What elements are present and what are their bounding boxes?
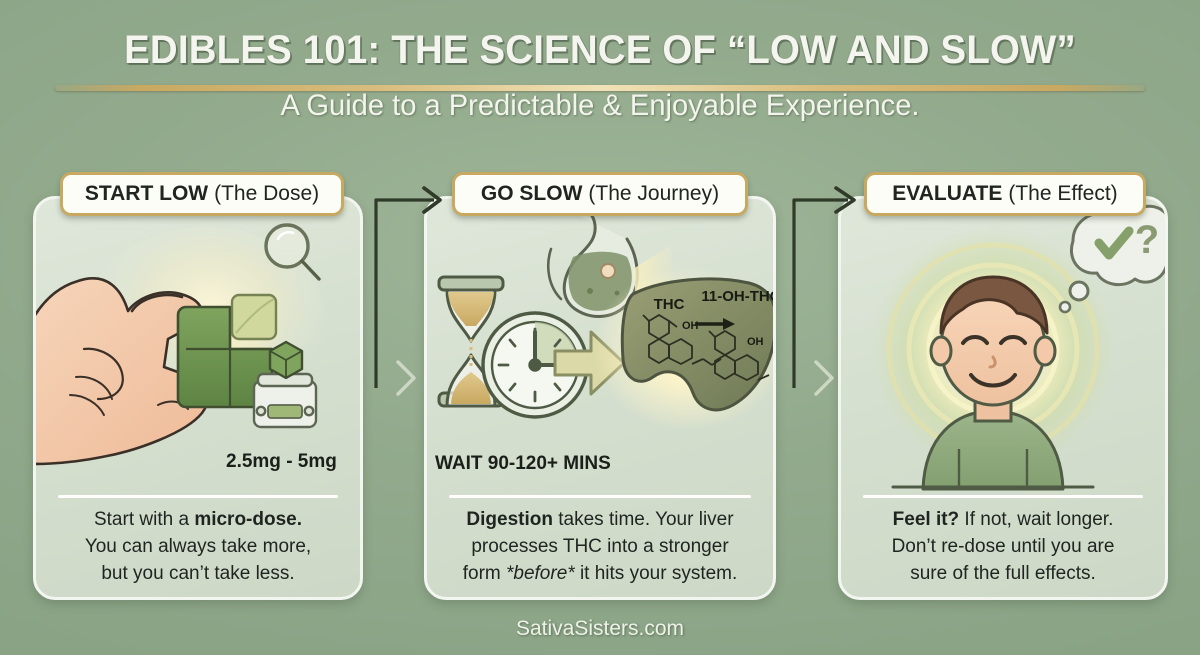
step-header-go-slow[interactable]: GO SLOW (The Journey) bbox=[452, 172, 748, 216]
body-text-emphasis: *before* bbox=[506, 563, 575, 584]
card-divider bbox=[863, 495, 1143, 498]
gummy-piece-icon bbox=[232, 295, 276, 339]
pill-subtitle: (The Effect) bbox=[1008, 182, 1117, 206]
go-slow-illustration: THC OH 11-OH-THC OH WAIT 90-120+ MINS bbox=[427, 199, 773, 495]
body-text: form bbox=[463, 563, 506, 584]
arrow-right-icon-secondary bbox=[816, 362, 832, 394]
pill-subtitle: (The Dose) bbox=[214, 182, 319, 206]
svg-text:OH: OH bbox=[747, 336, 764, 348]
body-text: takes time. Your liver bbox=[553, 509, 734, 530]
arrow-right-icon-secondary bbox=[398, 362, 414, 394]
header: EDIBLES 101: THE SCIENCE OF “LOW AND SLO… bbox=[0, 0, 1200, 123]
body-text-strong: Digestion bbox=[466, 509, 553, 530]
body-text-strong: micro-dose. bbox=[194, 509, 302, 530]
start-low-illustration: 2.5mg - 5mg bbox=[36, 199, 360, 495]
body-text: processes THC into a stronger bbox=[441, 534, 759, 561]
body-text: If not, wait longer. bbox=[959, 509, 1113, 530]
start-low-body: Start with a micro-dose. You can always … bbox=[50, 507, 346, 588]
evaluate-illustration: ? bbox=[841, 199, 1165, 495]
go-slow-body: Digestion takes time. Your liver process… bbox=[441, 507, 759, 588]
infographic-canvas: EDIBLES 101: THE SCIENCE OF “LOW AND SLO… bbox=[0, 0, 1200, 655]
molecule-to-label: 11-OH-THC bbox=[701, 288, 776, 305]
edible-in-stomach-icon bbox=[601, 264, 615, 278]
connector-2-3 bbox=[786, 176, 866, 406]
pill-title: GO SLOW bbox=[481, 182, 583, 206]
body-text: You can always take more, bbox=[50, 534, 346, 561]
footer-site-name[interactable]: SativaSisters.com bbox=[0, 617, 1200, 641]
body-text-strong: Feel it? bbox=[893, 509, 960, 530]
body-text: Don’t re-dose until you are bbox=[855, 534, 1151, 561]
pill-subtitle: (The Journey) bbox=[588, 182, 719, 206]
molecule-from-label: THC bbox=[654, 296, 685, 313]
thought-bubble-icon: ? bbox=[1060, 201, 1168, 312]
pill-title: EVALUATE bbox=[892, 182, 1002, 206]
evaluate-body: Feel it? If not, wait longer. Don’t re-d… bbox=[855, 507, 1151, 588]
connector-1-2 bbox=[372, 176, 452, 406]
card-divider bbox=[449, 495, 751, 498]
step-card-start-low[interactable]: 2.5mg - 5mg Start with a micro-dose. You… bbox=[33, 196, 363, 600]
body-text: it hits your system. bbox=[575, 563, 738, 584]
person-thought-bubble-art: ? bbox=[841, 199, 1168, 495]
step-header-evaluate[interactable]: EVALUATE (The Effect) bbox=[864, 172, 1146, 216]
wait-time-label: WAIT 90-120+ MINS bbox=[435, 453, 611, 475]
step-card-go-slow[interactable]: THC OH 11-OH-THC OH WAIT 90-120+ MINS Di… bbox=[424, 196, 776, 600]
step-card-evaluate[interactable]: ? Feel it? If not, wait longer. Don’t re… bbox=[838, 196, 1168, 600]
hourglass-clock-liver-art: THC OH 11-OH-THC OH bbox=[427, 199, 776, 495]
page-subtitle: A Guide to a Predictable & Enjoyable Exp… bbox=[18, 89, 1182, 123]
card-divider bbox=[58, 495, 338, 498]
dose-range-label: 2.5mg - 5mg bbox=[226, 451, 337, 473]
pill-title: START LOW bbox=[85, 182, 208, 206]
page-title: EDIBLES 101: THE SCIENCE OF “LOW AND SLO… bbox=[24, 0, 1176, 73]
body-text: but you can’t take less. bbox=[50, 561, 346, 588]
svg-text:OH: OH bbox=[682, 320, 699, 332]
question-mark-icon: ? bbox=[1135, 218, 1159, 262]
body-text: Start with a bbox=[94, 509, 194, 530]
step-header-start-low[interactable]: START LOW (The Dose) bbox=[60, 172, 344, 216]
body-text: sure of the full effects. bbox=[855, 561, 1151, 588]
